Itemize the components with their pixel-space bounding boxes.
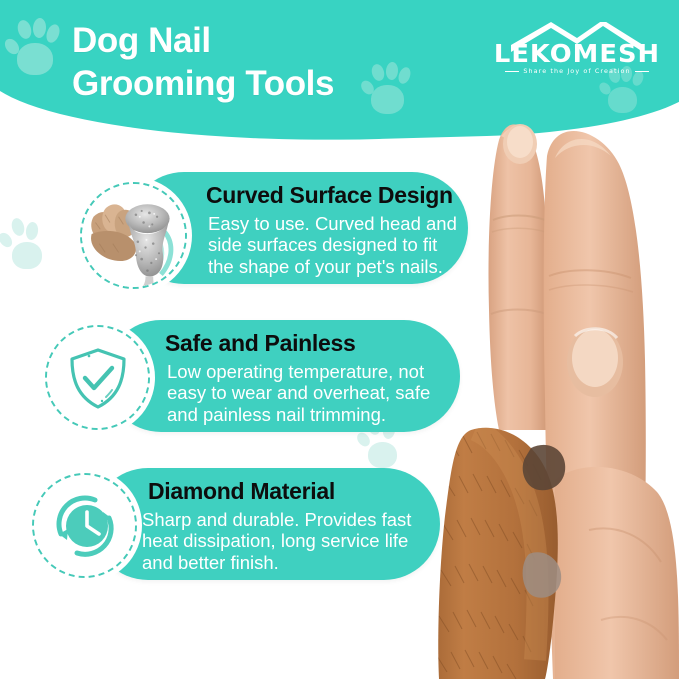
feature-description: Low operating temperature, not easy to w… xyxy=(167,361,430,425)
shield-check-icon xyxy=(47,327,148,428)
feature-icon-badge-1 xyxy=(80,182,187,289)
page-title: Dog Nail Grooming Tools xyxy=(72,20,492,105)
paw-print-icon xyxy=(0,216,50,272)
feature-title: Diamond Material xyxy=(148,480,335,503)
feature-description: Sharp and durable. Provides fast heat di… xyxy=(142,509,411,573)
feature-card-3: Diamond Material Sharp and durable. Prov… xyxy=(92,468,440,580)
brand-logo: LEKOMESH Share the Joy of Creation xyxy=(493,22,661,84)
feature-icon-badge-3 xyxy=(32,473,137,578)
grinding-head-photo xyxy=(82,184,185,287)
product-infographic: Dog Nail Grooming Tools LEKOMESH Share t… xyxy=(0,0,679,679)
feature-icon-badge-2 xyxy=(45,325,150,430)
brand-tagline: Share the Joy of Creation xyxy=(493,67,661,75)
page-title-line-1: Dog Nail xyxy=(72,20,492,63)
feature-title: Curved Surface Design xyxy=(206,184,453,207)
feature-description: Easy to use. Curved head and side surfac… xyxy=(208,213,457,277)
clock-refresh-icon xyxy=(34,475,135,576)
feature-title: Safe and Painless xyxy=(165,332,356,355)
page-title-line-2: Grooming Tools xyxy=(72,63,492,106)
feature-card-2: Safe and Painless Low operating temperat… xyxy=(105,320,460,432)
brand-name: LEKOMESH xyxy=(490,39,663,68)
